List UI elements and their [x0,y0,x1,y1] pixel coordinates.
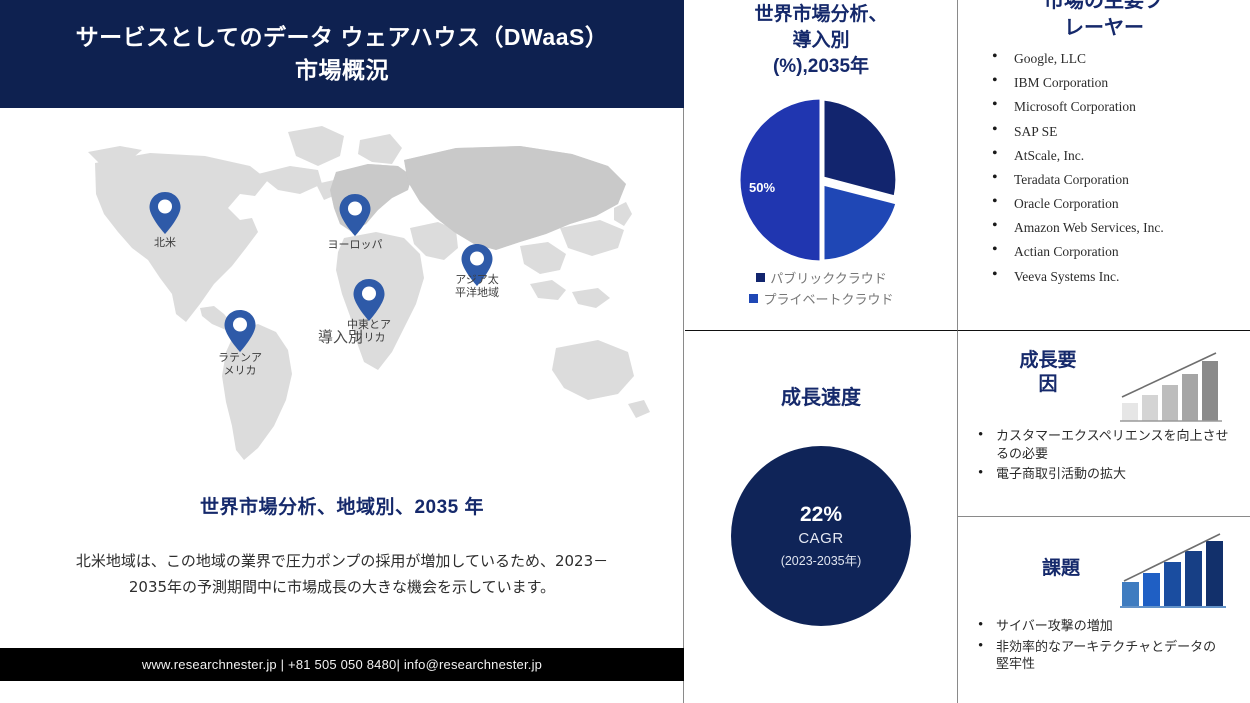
cagr-panel-title: 成長速度 [685,331,957,410]
drivers-bar-chart-svg [1116,347,1226,425]
list-item: Veeva Systems Inc. [992,270,1250,284]
map-pin-label: ラテンアメリカ [218,352,262,377]
footer-bar: www.researchnester.jp | +81 505 050 8480… [0,648,684,681]
footer-contact-text: www.researchnester.jp | +81 505 050 8480… [142,657,542,672]
legend-item-private-cloud: プライベートクラウド [749,289,893,308]
map-pin-europe[interactable]: ヨーロッパ [338,192,372,238]
players-title-line2: レーヤー [958,15,1250,42]
left-panel: サービスとしてのデータ ウェアハウス（DWaaS） 市場概況 [0,0,684,703]
location-pin-icon [352,277,386,323]
players-title-line1: 市場の主要プ [958,0,1250,15]
map-pin-north-america[interactable]: 北米 [148,190,182,236]
pie-chart-panel: 世界市場分析、 導入別 (%),2035年 50% パブリッククラウド プ [685,0,958,331]
pie-title-line2: 導入別 [685,28,957,54]
list-item: AtScale, Inc. [992,149,1250,163]
drivers-bar-chart [1116,347,1226,425]
growth-rate-panel: 成長速度 22% CAGR (2023-2035年) [685,331,958,703]
challenges-bar-chart [1116,529,1228,611]
list-item: サイバー攻撃の増加 [976,617,1224,635]
world-map: 北米 ヨーロッパ アジア太平洋地域 [0,108,684,476]
map-pin-label: アジア太平洋地域 [451,274,503,299]
players-panel-title: 市場の主要プ レーヤー [958,0,1250,42]
legend-item-public-cloud: パブリッククラウド [756,268,886,287]
list-item: Google, LLC [992,52,1250,66]
list-item: SAP SE [992,125,1250,139]
map-pin-label: 北米 [154,234,176,250]
region-description: 北米地域は、この地域の業界で圧力ポンプの採用が増加しているため、2023－203… [70,548,614,601]
pie-title-line1: 世界市場分析、 [685,2,957,28]
drivers-bullet-list: カスタマーエクスペリエンスを向上させるの必要 電子商取引活動の拡大 [976,427,1238,486]
pie-legend: パブリッククラウド プライベートクラウド [685,268,958,308]
pie-panel-title: 世界市場分析、 導入別 (%),2035年 [685,0,957,81]
location-pin-icon [148,190,182,236]
location-pin-icon [338,192,372,238]
list-item: Microsoft Corporation [992,100,1250,114]
list-item: Teradata Corporation [992,173,1250,187]
challenges-panel-title: 課題 [1006,557,1116,581]
key-players-panel: 市場の主要プ レーヤー Google, LLC IBM Corporation … [958,0,1250,331]
region-heading: 世界市場分析、地域別、2035 年 [0,492,684,519]
page-title-line1: サービスとしてのデータ ウェアハウス（DWaaS） [76,21,609,54]
challenges-panel: 課題 サイバー攻撃の増加 非効率的なアーキテクチャとデータの堅牢性 [958,517,1250,703]
page-title-line2: 市場概況 [76,54,609,87]
map-pin-asia-pacific[interactable]: アジア太平洋地域 [460,242,494,288]
drivers-title-line1: 成長要 [988,349,1108,373]
pie-slice-label-50: 50% [749,180,775,195]
map-pin-middle-east-africa[interactable]: 中東とアフリカ [352,277,386,323]
world-map-svg [0,108,684,476]
cagr-label: CAGR [798,530,843,547]
pie-title-line3: (%),2035年 [685,54,957,80]
pie-chart: 50% [737,96,905,264]
legend-label: プライベートクラウド [763,289,893,308]
cagr-circle: 22% CAGR (2023-2035年) [731,446,911,626]
list-item: 非効率的なアーキテクチャとデータの堅牢性 [976,638,1224,673]
cagr-years: (2023-2035年) [781,550,862,569]
list-item: カスタマーエクスペリエンスを向上させるの必要 [976,427,1238,462]
legend-label: パブリッククラウド [770,268,886,287]
location-pin-icon [223,308,257,354]
map-pin-label: ヨーロッパ [328,236,383,252]
map-pin-latin-america[interactable]: ラテンアメリカ [223,308,257,354]
list-item: Oracle Corporation [992,197,1250,211]
list-item: 電子商取引活動の拡大 [976,465,1238,483]
legend-swatch-icon [756,273,765,282]
list-item: IBM Corporation [992,76,1250,90]
drivers-panel-title: 成長要 因 [988,349,1108,397]
list-item: Actian Corporation [992,245,1250,259]
cagr-percent: 22% [800,503,842,527]
challenges-bar-chart-svg [1116,529,1228,611]
list-item: Amazon Web Services, Inc. [992,221,1250,235]
growth-drivers-panel: 成長要 因 カスタマーエクスペリエンスを向上させるの必要 電子商取引活動の拡大 [958,331,1250,517]
page-title: サービスとしてのデータ ウェアハウス（DWaaS） 市場概況 [62,21,623,88]
header-title-bar: サービスとしてのデータ ウェアハウス（DWaaS） 市場概況 [0,0,684,108]
key-players-list: Google, LLC IBM Corporation Microsoft Co… [992,52,1250,284]
infographic-page: サービスとしてのデータ ウェアハウス（DWaaS） 市場概況 [0,0,1250,703]
challenges-bullet-list: サイバー攻撃の増加 非効率的なアーキテクチャとデータの堅牢性 [976,617,1224,676]
map-overlay-label: 導入別 [318,326,363,347]
drivers-title-line2: 因 [988,373,1108,397]
legend-swatch-icon [749,294,758,303]
